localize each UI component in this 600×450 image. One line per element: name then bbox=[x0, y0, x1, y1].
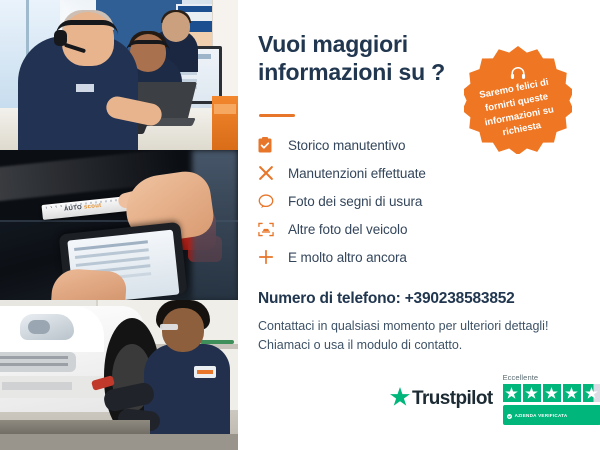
phone-number[interactable]: Numero di telefono: +390238583852 bbox=[258, 290, 578, 308]
trustpilot-rating: Eccellente AZIENDA VERIFICATA bbox=[503, 373, 600, 425]
trustpilot-name: Trustpilot bbox=[412, 388, 493, 410]
workshop-wheel-photo bbox=[0, 300, 238, 450]
list-item: Foto dei segni di usura bbox=[258, 187, 508, 215]
star-half bbox=[583, 384, 600, 402]
verified-badge: AZIENDA VERIFICATA bbox=[503, 405, 600, 425]
vehicle-inspection-photo: AUTO scout bbox=[0, 150, 238, 300]
trustpilot-star-icon bbox=[390, 387, 410, 411]
content-panel: Vuoi maggiori informazioni su ? Saremo f… bbox=[238, 0, 600, 450]
car-scan-icon bbox=[258, 222, 288, 237]
feature-list: Storico manutentivo Manutenzioni effettu… bbox=[258, 131, 508, 271]
phone-description: Contattaci in qualsiasi momento per ulte… bbox=[258, 317, 578, 356]
verified-badge-text: AZIENDA VERIFICATA bbox=[515, 413, 568, 418]
promo-card: AUTO scout Vuoi maggiori informazioni su… bbox=[0, 0, 600, 450]
tools-cross-icon bbox=[258, 165, 288, 181]
list-item-label: Storico manutentivo bbox=[288, 138, 405, 153]
clipboard-check-icon bbox=[258, 137, 288, 153]
list-item-label: Foto dei segni di usura bbox=[288, 194, 422, 209]
star-filled bbox=[543, 384, 561, 402]
list-item: Manutenzioni effettuate bbox=[258, 159, 508, 187]
phone-description-line-1: Contattaci in qualsiasi momento per ulte… bbox=[258, 317, 578, 336]
plus-icon bbox=[258, 249, 288, 265]
page-title: Vuoi maggiori informazioni su ? bbox=[258, 30, 488, 86]
star-rating bbox=[503, 384, 600, 402]
trustpilot-widget[interactable]: Trustpilot Eccellente AZIENDA VERIFICATA bbox=[390, 373, 600, 425]
list-item-label: Manutenzioni effettuate bbox=[288, 166, 426, 181]
rating-label: Eccellente bbox=[503, 373, 600, 382]
list-item: Altre foto del veicolo bbox=[258, 215, 508, 243]
trustpilot-logo: Trustpilot bbox=[390, 387, 493, 411]
list-item: Storico manutentivo bbox=[258, 131, 508, 159]
list-item-label: E molto altro ancora bbox=[288, 250, 407, 265]
phone-description-line-2: Chiamaci o usa il modulo di contatto. bbox=[258, 336, 578, 355]
list-item: E molto altro ancora bbox=[258, 243, 508, 271]
phone-block: Numero di telefono: +390238583852 Contat… bbox=[258, 290, 578, 356]
photo-column: AUTO scout bbox=[0, 0, 238, 450]
list-item-label: Altre foto del veicolo bbox=[288, 222, 407, 237]
star-filled bbox=[563, 384, 581, 402]
speech-bubble-icon bbox=[258, 194, 288, 209]
title-underline bbox=[259, 114, 295, 117]
star-filled bbox=[503, 384, 521, 402]
star-filled bbox=[523, 384, 541, 402]
verified-badge-icon bbox=[507, 406, 512, 424]
call-center-photo bbox=[0, 0, 238, 150]
